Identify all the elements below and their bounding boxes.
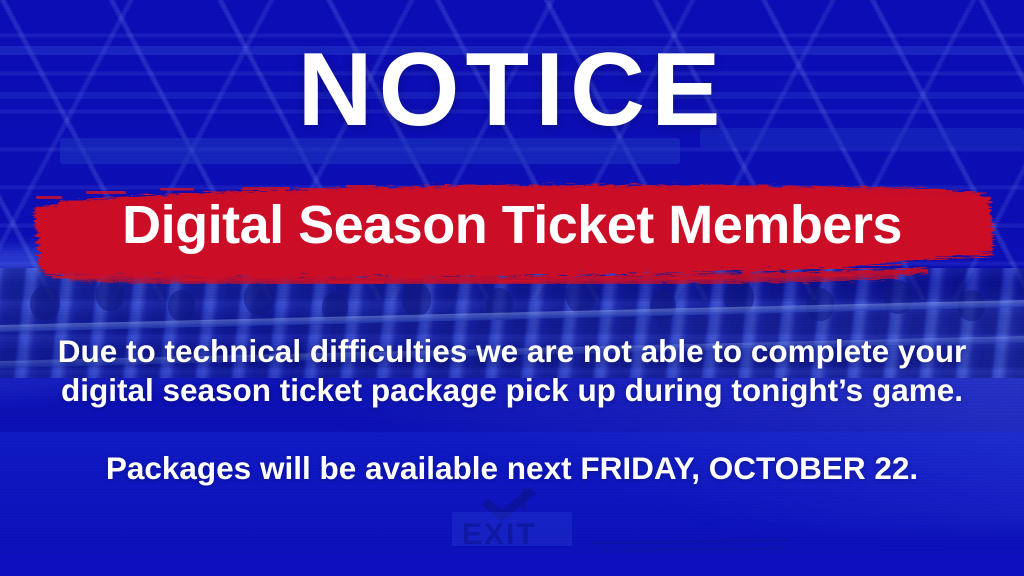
body-line-3: Packages will be available next FRIDAY, … xyxy=(0,449,1024,488)
notice-graphic: EXIT NOTICE xyxy=(0,0,1024,576)
notice-headline: NOTICE xyxy=(0,38,1024,142)
banner-label: Digital Season Ticket Members xyxy=(0,198,1024,252)
notice-content: NOTICE xyxy=(0,0,1024,576)
paragraph-spacer xyxy=(0,410,1024,449)
notice-body: Due to technical difficulties we are not… xyxy=(0,332,1024,488)
body-line-2: digital season ticket package pick up du… xyxy=(0,371,1024,410)
body-line-1: Due to technical difficulties we are not… xyxy=(0,332,1024,371)
